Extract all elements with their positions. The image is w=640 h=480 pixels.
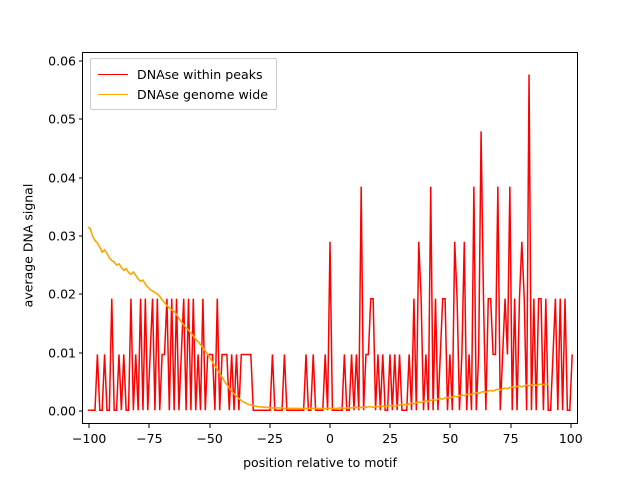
y-tick-mark bbox=[79, 177, 83, 178]
x-tick-label: 100 bbox=[541, 431, 601, 446]
matplotlib-figure: 0.000.010.020.030.040.050.06 −100−75−50−… bbox=[0, 0, 640, 480]
line-dnase-within-peaks bbox=[88, 74, 572, 410]
y-tick-mark bbox=[79, 119, 83, 120]
x-axis-label: position relative to motif bbox=[0, 455, 640, 470]
legend-swatch-red bbox=[98, 74, 128, 75]
x-tick-mark bbox=[209, 424, 210, 428]
y-tick-label: 0.05 bbox=[16, 112, 76, 127]
x-tick-mark bbox=[330, 424, 331, 428]
x-tick-mark bbox=[450, 424, 451, 428]
legend: DNAse within peaks DNAse genome wide bbox=[90, 58, 277, 110]
x-tick-mark bbox=[149, 424, 150, 428]
y-tick-mark bbox=[79, 352, 83, 353]
x-tick-mark bbox=[89, 424, 90, 428]
x-tick-label: −75 bbox=[119, 431, 179, 446]
y-tick-mark bbox=[79, 235, 83, 236]
x-tick-mark bbox=[570, 424, 571, 428]
y-tick-mark bbox=[79, 411, 83, 412]
legend-item-dnase-within-peaks: DNAse within peaks bbox=[98, 64, 268, 84]
y-tick-label: 0.00 bbox=[16, 404, 76, 419]
y-tick-label: 0.06 bbox=[16, 53, 76, 68]
y-tick-mark bbox=[79, 60, 83, 61]
x-tick-label: 25 bbox=[360, 431, 420, 446]
legend-label-dnase-within-peaks: DNAse within peaks bbox=[137, 67, 263, 82]
legend-item-dnase-genome-wide: DNAse genome wide bbox=[98, 84, 268, 104]
x-tick-label: −100 bbox=[59, 431, 119, 446]
x-tick-mark bbox=[510, 424, 511, 428]
x-tick-label: −50 bbox=[180, 431, 240, 446]
legend-label-dnase-genome-wide: DNAse genome wide bbox=[137, 87, 268, 102]
legend-swatch-orange bbox=[98, 94, 128, 95]
x-tick-mark bbox=[390, 424, 391, 428]
y-tick-mark bbox=[79, 294, 83, 295]
x-tick-mark bbox=[269, 424, 270, 428]
y-axis-label: average DNA signal bbox=[21, 126, 36, 366]
x-tick-label: 75 bbox=[481, 431, 541, 446]
x-tick-label: 0 bbox=[300, 431, 360, 446]
x-tick-label: −25 bbox=[240, 431, 300, 446]
x-tick-label: 50 bbox=[420, 431, 480, 446]
